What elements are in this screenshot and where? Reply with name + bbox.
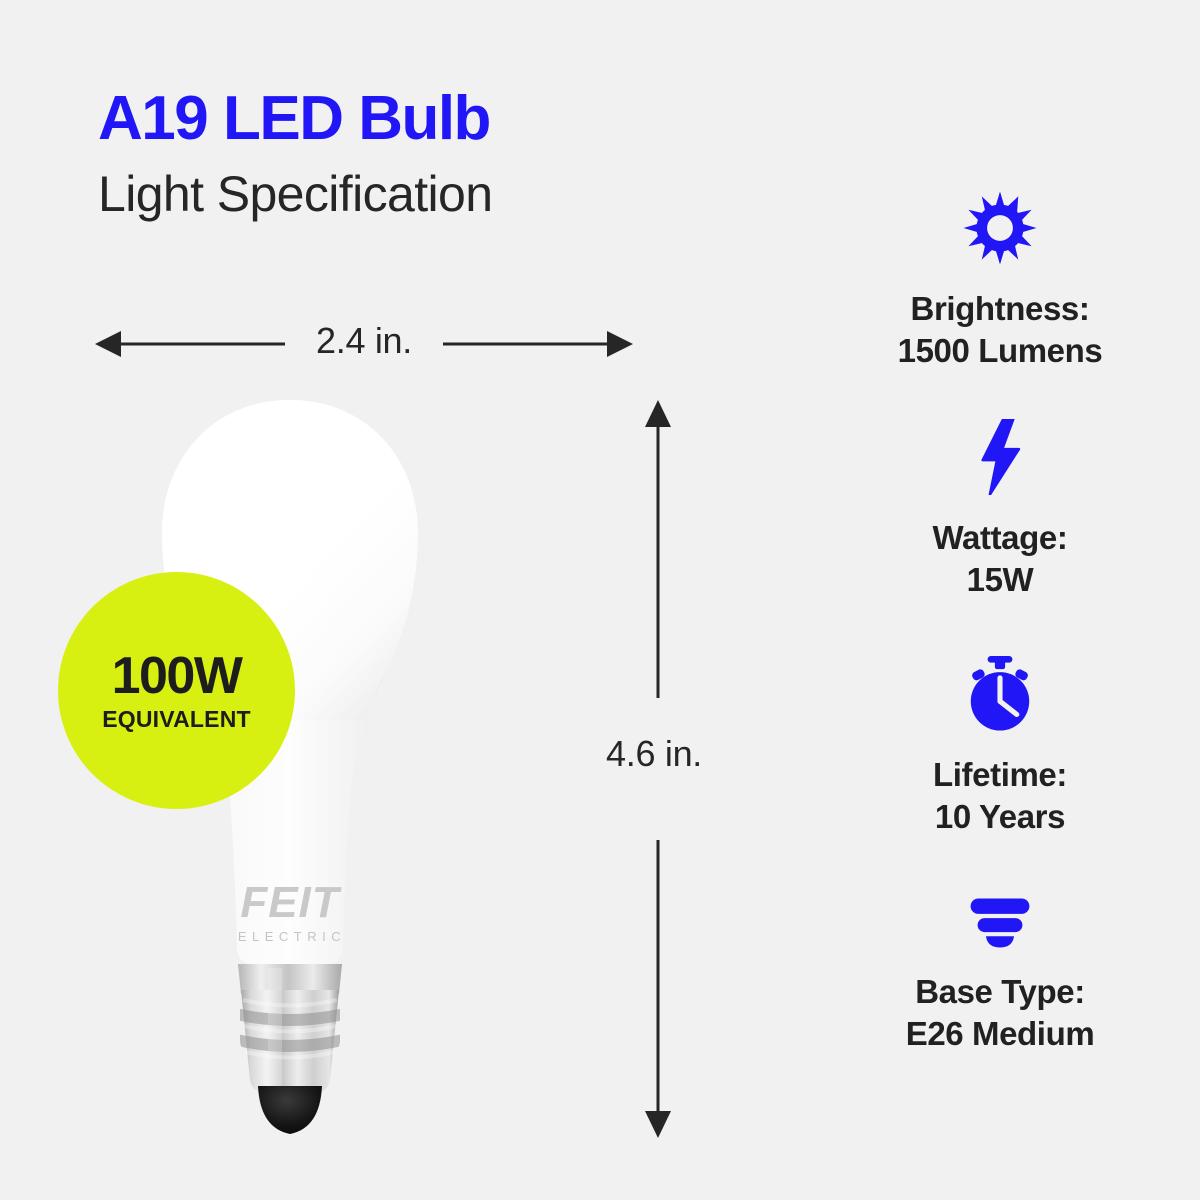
wattage-equivalent-badge: 100W EQUIVALENT [58,572,295,809]
spec-value-wattage: 15W [933,559,1068,601]
screw-base [236,964,344,1134]
page-title: A19 LED Bulb [98,86,492,151]
spec-item-lifetime: Lifetime: 10 Years [820,656,1180,837]
spacer [820,837,1180,897]
spec-label-wattage: Wattage: [933,517,1068,559]
spec-item-wattage: Wattage: 15W [820,419,1180,600]
page-subtitle: Light Specification [98,167,492,221]
spec-value-base-type: E26 Medium [906,1013,1095,1055]
width-dimension: 2.4 in. [95,318,633,370]
spacer [820,371,1180,419]
badge-watts-value: 100W [112,650,242,702]
spec-value-lifetime: 10 Years [933,796,1067,838]
badge-equivalent-label: EQUIVALENT [102,708,251,731]
spec-text-wattage: Wattage: 15W [933,517,1068,600]
spec-text-lifetime: Lifetime: 10 Years [933,754,1067,837]
bulb-base-icon [965,897,1035,949]
spec-value-brightness: 1500 Lumens [898,330,1103,372]
brand-subname: ELECTRIC [238,929,346,944]
sun-icon [962,190,1038,266]
spec-text-brightness: Brightness: 1500 Lumens [898,288,1103,371]
width-dimension-label: 2.4 in. [95,320,633,362]
lightning-bolt-icon [976,419,1024,495]
height-dimension-label: 4.6 in. [562,733,702,775]
spec-item-brightness: Brightness: 1500 Lumens [820,190,1180,371]
spec-label-base-type: Base Type: [906,971,1095,1013]
header: A19 LED Bulb Light Specification [98,86,492,221]
spec-list: Brightness: 1500 Lumens Wattage: 15W [820,190,1180,1055]
stopwatch-icon [963,656,1037,732]
light-specification-infographic: A19 LED Bulb Light Specification 2.4 in.… [0,0,1200,1200]
spacer [820,600,1180,656]
spec-label-brightness: Brightness: [898,288,1103,330]
brand-logo: FEIT ELECTRIC [238,878,346,944]
brand-name: FEIT [240,878,341,927]
spec-label-lifetime: Lifetime: [933,754,1067,796]
spec-item-base-type: Base Type: E26 Medium [820,897,1180,1054]
spec-text-base-type: Base Type: E26 Medium [906,971,1095,1054]
